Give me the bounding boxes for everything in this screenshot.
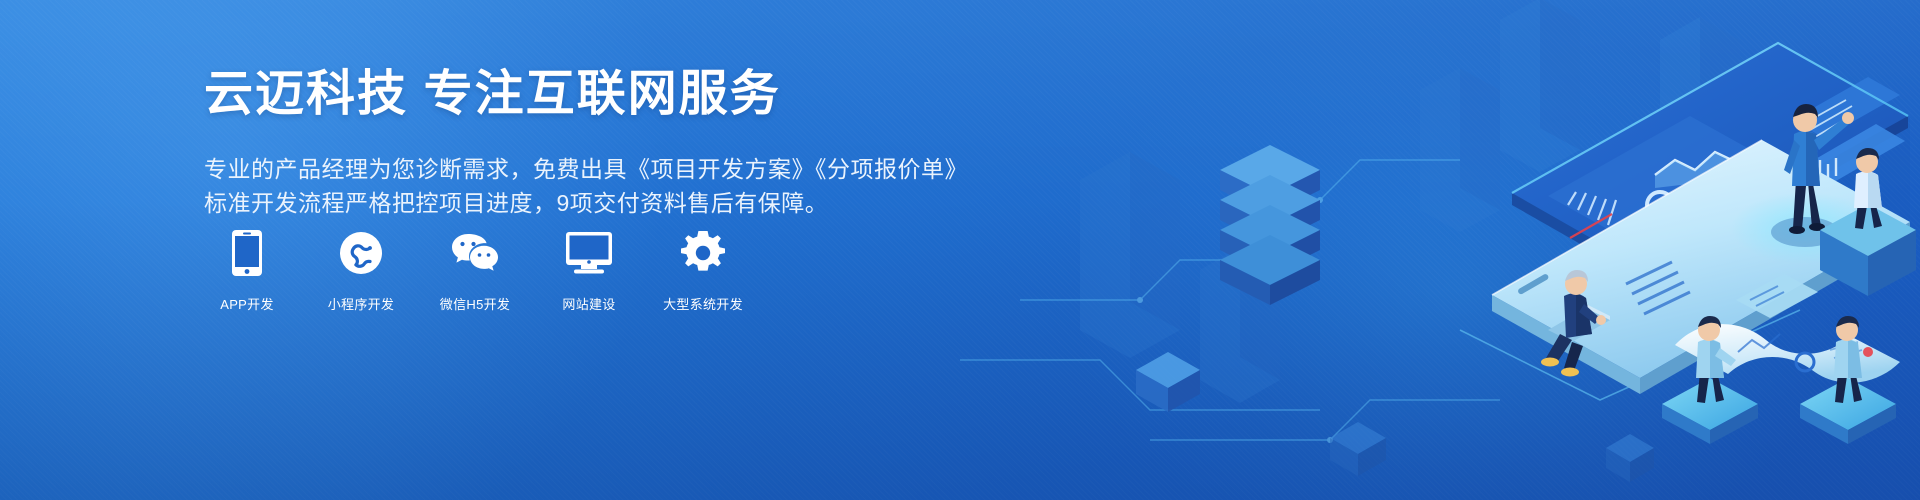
person-on-platform-right bbox=[1800, 316, 1896, 444]
service-label: 大型系统开发 bbox=[663, 294, 743, 313]
bottom-cubes bbox=[1330, 422, 1654, 482]
wechat-icon bbox=[450, 228, 500, 278]
isometric-data-dashboard-illustration bbox=[900, 0, 1920, 500]
page-title: 云迈科技 专注互联网服务 bbox=[204, 66, 924, 122]
service-label: APP开发 bbox=[220, 294, 274, 313]
service-item-large-system[interactable]: 大型系统开发 bbox=[660, 228, 746, 313]
server-stack bbox=[1220, 145, 1320, 305]
service-label: 网站建设 bbox=[562, 294, 615, 313]
monitor-icon bbox=[564, 228, 614, 278]
service-label: 微信H5开发 bbox=[440, 294, 510, 313]
floating-cube bbox=[1136, 352, 1200, 412]
mini-program-icon bbox=[336, 228, 386, 278]
service-item-mini-program[interactable]: 小程序开发 bbox=[318, 228, 404, 313]
service-item-app[interactable]: APP开发 bbox=[204, 228, 290, 313]
service-list: APP开发 小程序开发 bbox=[204, 228, 746, 313]
subtitle-line-2: 标准开发流程严格把控项目进度，9项交付资料售后有保障。 bbox=[204, 186, 924, 220]
service-item-website[interactable]: 网站建设 bbox=[546, 228, 632, 313]
service-label: 小程序开发 bbox=[328, 294, 395, 313]
banner-text-block: 云迈科技 专注互联网服务 专业的产品经理为您诊断需求，免费出具《项目开发方案》《… bbox=[204, 66, 924, 220]
subtitle-group: 专业的产品经理为您诊断需求，免费出具《项目开发方案》《分项报价单》 标准开发流程… bbox=[204, 152, 924, 220]
hero-banner: 云迈科技 专注互联网服务 专业的产品经理为您诊断需求，免费出具《项目开发方案》《… bbox=[0, 0, 1920, 500]
subtitle-line-1: 专业的产品经理为您诊断需求，免费出具《项目开发方案》《分项报价单》 bbox=[204, 152, 924, 186]
gear-icon bbox=[678, 228, 728, 278]
service-item-wechat-h5[interactable]: 微信H5开发 bbox=[432, 228, 518, 313]
mobile-phone-icon bbox=[222, 228, 272, 278]
